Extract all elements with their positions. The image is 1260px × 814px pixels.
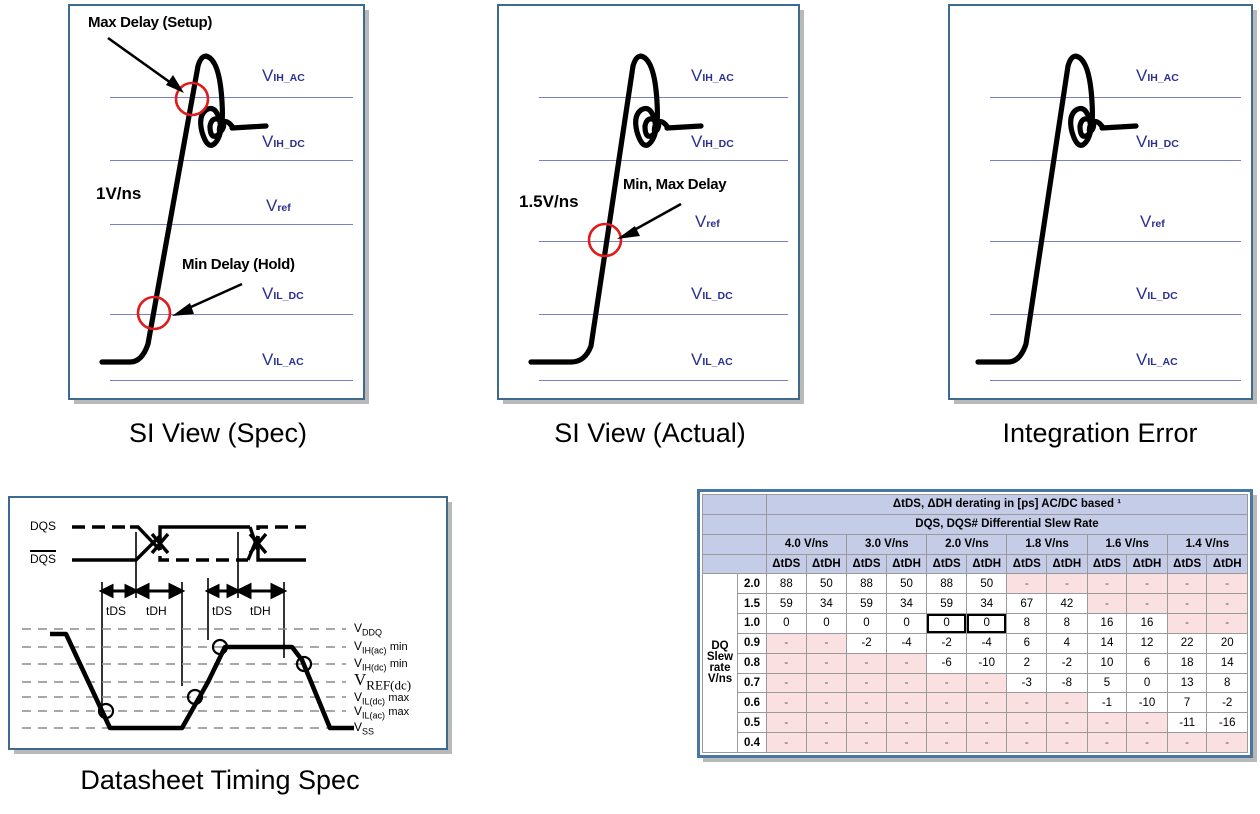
interval-arrows xyxy=(102,585,284,597)
table-row: 0.7-------3-850138 xyxy=(703,673,1248,693)
cell-1.5-0: 59 xyxy=(767,594,807,614)
subheader-0-0: ΔtDS xyxy=(767,554,807,574)
cell-1.0-0: 0 xyxy=(767,614,807,634)
cell-0.6-7: - xyxy=(1047,693,1088,713)
table-title: ΔtDS, ΔDH derating in [ps] AC/DC based ¹ xyxy=(767,495,1248,515)
cell-2.0-10: - xyxy=(1167,574,1207,594)
dqs-signal-label: DQS xyxy=(30,519,56,533)
cell-0.7-9: 0 xyxy=(1127,673,1168,693)
cell-0.8-4: -6 xyxy=(927,653,967,673)
voltage-label-vih-dc: VIH_DC xyxy=(262,132,305,152)
cell-0.5-8: - xyxy=(1087,713,1127,733)
waveform-trace-integration xyxy=(950,6,1251,398)
arrow-max-delay xyxy=(108,38,184,93)
cell-1.5-7: 42 xyxy=(1047,594,1088,614)
subheader-3-0: ΔtDS xyxy=(1007,554,1047,574)
cell-0.9-8: 14 xyxy=(1087,633,1127,653)
cell-2.0-11: - xyxy=(1207,574,1248,594)
slew-rate-label-actual: 1.5V/ns xyxy=(519,192,579,212)
cell-1.0-4: 0 xyxy=(927,614,967,634)
table-row: 0.9---2-4-2-46414122220 xyxy=(703,633,1248,653)
cell-0.5-3: - xyxy=(886,713,927,733)
cell-0.7-11: 8 xyxy=(1207,673,1248,693)
cell-0.5-4: - xyxy=(927,713,967,733)
subheader-0-1: ΔtDH xyxy=(806,554,847,574)
cell-0.7-2: - xyxy=(847,673,887,693)
slew-column-header-4: 1.6 V/ns xyxy=(1087,534,1167,554)
cell-0.7-3: - xyxy=(886,673,927,693)
voltage-label-vil-dc: VIL_DC xyxy=(1136,284,1178,304)
cell-1.0-10: - xyxy=(1167,614,1207,634)
cell-0.7-5: - xyxy=(966,673,1007,693)
cell-0.9-11: 20 xyxy=(1207,633,1248,653)
cell-0.5-6: - xyxy=(1007,713,1047,733)
cell-2.0-5: 50 xyxy=(966,574,1007,594)
row-header-dq-slew: 1.5 xyxy=(738,594,767,614)
si-view-actual-panel: Min, Max Delay 1.5V/ns VIH_AC VIH_DC Vre… xyxy=(497,4,800,400)
cell-0.8-7: -2 xyxy=(1047,653,1088,673)
group-row-spacer xyxy=(703,514,767,534)
interval-label-tdh-2: tDH xyxy=(250,604,271,618)
cell-0.8-9: 6 xyxy=(1127,653,1168,673)
cell-1.5-2: 59 xyxy=(847,594,887,614)
cell-0.4-9: - xyxy=(1127,733,1168,753)
title-row-spacer xyxy=(703,495,767,515)
cell-2.0-2: 88 xyxy=(847,574,887,594)
cell-0.7-0: - xyxy=(767,673,807,693)
voltage-label-vih-ac: VIH_AC xyxy=(691,66,734,86)
cell-2.0-8: - xyxy=(1087,574,1127,594)
row-header-dq-slew: 0.5 xyxy=(738,713,767,733)
cell-0.4-8: - xyxy=(1087,733,1127,753)
cell-0.9-7: 4 xyxy=(1047,633,1088,653)
cell-0.8-11: 14 xyxy=(1207,653,1248,673)
voltage-label-vil-ac: VIL_AC xyxy=(1136,350,1178,370)
annotation-min-delay-hold: Min Delay (Hold) xyxy=(182,256,295,273)
cell-0.7-4: - xyxy=(927,673,967,693)
cell-0.4-0: - xyxy=(767,733,807,753)
cell-0.8-5: -10 xyxy=(966,653,1007,673)
cell-0.7-10: 13 xyxy=(1167,673,1207,693)
table-row: DQSlewrateV/ns2.0885088508850------ xyxy=(703,574,1248,594)
arrow-min-max-delay xyxy=(617,204,681,239)
si-view-spec-waveform: Max Delay (Setup) Min Delay (Hold) 1V/ns… xyxy=(70,6,363,398)
cell-1.5-3: 34 xyxy=(886,594,927,614)
slew-rate-label-spec: 1V/ns xyxy=(96,184,141,204)
derating-table-container: ΔtDS, ΔDH derating in [ps] AC/DC based ¹… xyxy=(697,489,1253,758)
cell-1.5-5: 34 xyxy=(966,594,1007,614)
cell-0.5-0: - xyxy=(767,713,807,733)
integration-error-panel: VIH_AC VIH_DC Vref VIL_DC VIL_AC xyxy=(948,4,1253,400)
table-row: 0.5-----------11-16 xyxy=(703,713,1248,733)
cell-2.0-4: 88 xyxy=(927,574,967,594)
cell-1.5-4: 59 xyxy=(927,594,967,614)
cell-0.6-4: - xyxy=(927,693,967,713)
row-header-dq-slew: 0.7 xyxy=(738,673,767,693)
cell-0.8-2: - xyxy=(847,653,887,673)
subheader-2-0: ΔtDS xyxy=(927,554,967,574)
row-header-dq-slew: 0.9 xyxy=(738,633,767,653)
table-subheader-row: ΔtDSΔtDHΔtDSΔtDHΔtDSΔtDHΔtDSΔtDHΔtDSΔtDH… xyxy=(703,554,1248,574)
subheader-1-1: ΔtDH xyxy=(886,554,927,574)
subheader-3-1: ΔtDH xyxy=(1047,554,1088,574)
cell-0.8-0: - xyxy=(767,653,807,673)
cell-0.6-8: -1 xyxy=(1087,693,1127,713)
level-label-vih-ac-min: VIH(ac) min xyxy=(354,639,408,655)
row-header-dq-slew: 0.4 xyxy=(738,733,767,753)
subheader-4-1: ΔtDH xyxy=(1127,554,1168,574)
subheader-1-0: ΔtDS xyxy=(847,554,887,574)
cell-1.0-1: 0 xyxy=(806,614,847,634)
cell-0.4-6: - xyxy=(1007,733,1047,753)
cell-0.8-10: 18 xyxy=(1167,653,1207,673)
cell-0.9-4: -2 xyxy=(927,633,967,653)
level-label-vil-ac-max: VIL(ac) max xyxy=(354,704,409,720)
cell-0.9-10: 22 xyxy=(1167,633,1207,653)
row-axis-label: DQSlewrateV/ns xyxy=(703,574,738,753)
slew-column-header-3: 1.8 V/ns xyxy=(1007,534,1087,554)
cell-1.5-1: 34 xyxy=(806,594,847,614)
integration-error-waveform: VIH_AC VIH_DC Vref VIL_DC VIL_AC xyxy=(950,6,1251,398)
cell-0.5-10: -11 xyxy=(1167,713,1207,733)
cell-0.7-7: -8 xyxy=(1047,673,1088,693)
cell-2.0-7: - xyxy=(1047,574,1088,594)
cell-0.4-4: - xyxy=(927,733,967,753)
cell-1.0-6: 8 xyxy=(1007,614,1047,634)
subheader-5-0: ΔtDS xyxy=(1167,554,1207,574)
crossing-circles xyxy=(99,640,311,718)
level-label-vddq: VDDQ xyxy=(354,621,382,637)
cell-0.4-10: - xyxy=(1167,733,1207,753)
cell-0.7-8: 5 xyxy=(1087,673,1127,693)
annotation-max-delay-setup: Max Delay (Setup) xyxy=(88,14,212,31)
cell-2.0-9: - xyxy=(1127,574,1168,594)
cell-1.0-11: - xyxy=(1207,614,1248,634)
cell-0.7-1: - xyxy=(806,673,847,693)
cell-2.0-0: 88 xyxy=(767,574,807,594)
voltage-label-vil-ac: VIL_AC xyxy=(262,350,304,370)
voltage-label-vref: Vref xyxy=(695,212,720,232)
row-header-dq-slew: 0.8 xyxy=(738,653,767,673)
cell-0.9-2: -2 xyxy=(847,633,887,653)
cell-0.6-11: -2 xyxy=(1207,693,1248,713)
datasheet-timing-panel: DQS DQS tDS tDH tDS tDH VDDQ VIH(ac) min… xyxy=(8,496,448,750)
cell-0.4-11: - xyxy=(1207,733,1248,753)
crossing-marks xyxy=(152,534,266,553)
voltage-label-vil-ac: VIL_AC xyxy=(691,350,733,370)
row-header-dq-slew: 1.0 xyxy=(738,614,767,634)
cell-1.0-9: 16 xyxy=(1127,614,1168,634)
cell-1.0-2: 0 xyxy=(847,614,887,634)
table-row: 0.4------------ xyxy=(703,733,1248,753)
subheader-4-0: ΔtDS xyxy=(1087,554,1127,574)
cell-0.6-6: - xyxy=(1007,693,1047,713)
cell-0.9-5: -4 xyxy=(966,633,1007,653)
derating-table: ΔtDS, ΔDH derating in [ps] AC/DC based ¹… xyxy=(702,494,1248,753)
dq-data-trace xyxy=(50,634,354,728)
interval-label-tds-1: tDS xyxy=(106,604,126,618)
voltage-label-vih-ac: VIH_AC xyxy=(262,66,305,86)
voltage-label-vil-dc: VIL_DC xyxy=(262,284,304,304)
subheader-spacer xyxy=(703,554,767,574)
group-header-slew-rate: DQS, DQS# Differential Slew Rate xyxy=(767,514,1248,534)
arrow-min-delay xyxy=(172,284,242,316)
voltage-label-vih-dc: VIH_DC xyxy=(1136,132,1179,152)
table-row: 0.6---------1-107-2 xyxy=(703,693,1248,713)
cell-0.5-11: -16 xyxy=(1207,713,1248,733)
si-view-actual-waveform: Min, Max Delay 1.5V/ns VIH_AC VIH_DC Vre… xyxy=(499,6,798,398)
cell-2.0-1: 50 xyxy=(806,574,847,594)
slew-column-header-1: 3.0 V/ns xyxy=(847,534,927,554)
cell-1.0-7: 8 xyxy=(1047,614,1088,634)
cell-1.5-11: - xyxy=(1207,594,1248,614)
cell-0.4-5: - xyxy=(966,733,1007,753)
interval-label-tds-2: tDS xyxy=(212,604,232,618)
table-row: 0.8-----6-102-21061814 xyxy=(703,653,1248,673)
annotation-min-max-delay: Min, Max Delay xyxy=(623,176,726,193)
cell-0.9-6: 6 xyxy=(1007,633,1047,653)
cell-0.8-1: - xyxy=(806,653,847,673)
cell-0.8-3: - xyxy=(886,653,927,673)
cell-0.8-6: 2 xyxy=(1007,653,1047,673)
interval-label-tdh-1: tDH xyxy=(146,604,167,618)
cell-1.5-6: 67 xyxy=(1007,594,1047,614)
cell-1.5-8: - xyxy=(1087,594,1127,614)
cell-0.8-8: 10 xyxy=(1087,653,1127,673)
cell-1.5-10: - xyxy=(1167,594,1207,614)
cell-0.5-9: - xyxy=(1127,713,1168,733)
voltage-label-vil-dc: VIL_DC xyxy=(691,284,733,304)
cell-0.6-2: - xyxy=(847,693,887,713)
slew-column-header-5: 1.4 V/ns xyxy=(1167,534,1247,554)
level-label-vss: VSS xyxy=(354,720,374,736)
voltage-label-vref: Vref xyxy=(266,196,291,216)
cell-0.6-0: - xyxy=(767,693,807,713)
table-title-row: ΔtDS, ΔDH derating in [ps] AC/DC based ¹ xyxy=(703,495,1248,515)
cell-0.6-1: - xyxy=(806,693,847,713)
cell-0.4-1: - xyxy=(806,733,847,753)
dqs-signal-trace xyxy=(72,527,306,550)
voltage-label-vref: Vref xyxy=(1140,212,1165,232)
subheader-5-1: ΔtDH xyxy=(1207,554,1248,574)
subheader-2-1: ΔtDH xyxy=(966,554,1007,574)
voltage-label-vih-ac: VIH_AC xyxy=(1136,66,1179,86)
slew-column-header-0: 4.0 V/ns xyxy=(767,534,847,554)
table-row: 1.0000000881616-- xyxy=(703,614,1248,634)
cell-0.5-2: - xyxy=(847,713,887,733)
cell-1.0-3: 0 xyxy=(886,614,927,634)
row-header-dq-slew: 0.6 xyxy=(738,693,767,713)
cell-1.0-5: 0 xyxy=(966,614,1007,634)
caption-si-view-spec: SI View (Spec) xyxy=(58,418,378,449)
cell-0.5-5: - xyxy=(966,713,1007,733)
cell-0.6-3: - xyxy=(886,693,927,713)
cell-0.4-7: - xyxy=(1047,733,1088,753)
cell-2.0-3: 50 xyxy=(886,574,927,594)
cell-0.6-5: - xyxy=(966,693,1007,713)
cell-2.0-6: - xyxy=(1007,574,1047,594)
cell-1.5-9: - xyxy=(1127,594,1168,614)
cell-0.4-3: - xyxy=(886,733,927,753)
voltage-label-vih-dc: VIH_DC xyxy=(691,132,734,152)
dqs-bar-signal-trace xyxy=(72,536,306,560)
cell-0.5-7: - xyxy=(1047,713,1088,733)
cell-1.0-8: 16 xyxy=(1087,614,1127,634)
cell-0.9-3: -4 xyxy=(886,633,927,653)
cell-0.7-6: -3 xyxy=(1007,673,1047,693)
table-row: 1.55934593459346742---- xyxy=(703,594,1248,614)
caption-datasheet-timing: Datasheet Timing Spec xyxy=(10,765,430,796)
dqs-complement-signal-label: DQS xyxy=(30,550,56,566)
caption-integration-error: Integration Error xyxy=(940,418,1260,449)
cell-0.6-10: 7 xyxy=(1167,693,1207,713)
cell-0.6-9: -10 xyxy=(1127,693,1168,713)
slew-row-spacer xyxy=(703,534,767,554)
table-group-header-row: DQS, DQS# Differential Slew Rate xyxy=(703,514,1248,534)
cell-0.9-1: - xyxy=(806,633,847,653)
cell-0.9-0: - xyxy=(767,633,807,653)
row-header-dq-slew: 2.0 xyxy=(738,574,767,594)
caption-si-view-actual: SI View (Actual) xyxy=(490,418,810,449)
slew-column-header-2: 2.0 V/ns xyxy=(927,534,1007,554)
table-slew-column-row: 4.0 V/ns3.0 V/ns2.0 V/ns1.8 V/ns1.6 V/ns… xyxy=(703,534,1248,554)
datasheet-timing-diagram: DQS DQS tDS tDH tDS tDH VDDQ VIH(ac) min… xyxy=(10,498,446,748)
si-view-spec-panel: Max Delay (Setup) Min Delay (Hold) 1V/ns… xyxy=(68,4,365,400)
cell-0.5-1: - xyxy=(806,713,847,733)
cell-0.4-2: - xyxy=(847,733,887,753)
cell-0.9-9: 12 xyxy=(1127,633,1168,653)
